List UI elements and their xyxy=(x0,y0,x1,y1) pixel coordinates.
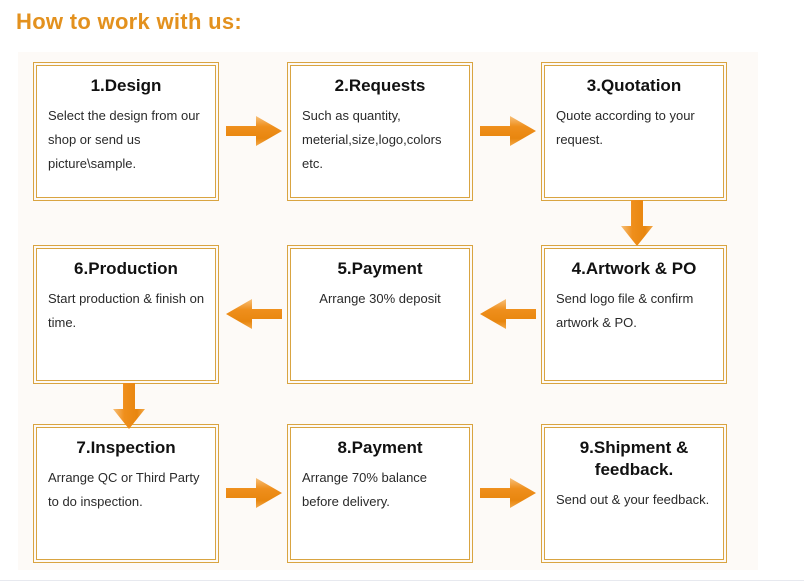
bottom-divider xyxy=(0,580,804,581)
arrow-right-icon-step1-to-step2 xyxy=(226,114,282,148)
arrow-right-icon-step2-to-step3 xyxy=(480,114,536,148)
step-box-7-inspection[interactable]: 7.Inspection Arrange QC or Third Party t… xyxy=(36,427,216,560)
arrow-right-icon-step7-to-step8 xyxy=(226,476,282,510)
arrow-right-icon-step8-to-step9 xyxy=(480,476,536,510)
step-box-3-quotation[interactable]: 3.Quotation Quote according to your requ… xyxy=(544,65,724,198)
step-box-8-payment[interactable]: 8.Payment Arrange 70% balance before del… xyxy=(290,427,470,560)
step-box-2-requests[interactable]: 2.Requests Such as quantity, meterial,si… xyxy=(290,65,470,198)
step-box-1-design[interactable]: 1.Design Select the design from our shop… xyxy=(36,65,216,198)
step-body: Send out & your feedback. xyxy=(556,488,723,512)
step-title: 6.Production xyxy=(43,258,209,280)
step-body: Such as quantity, meterial,size,logo,col… xyxy=(302,104,469,176)
step-body: Quote according to your request. xyxy=(556,104,723,152)
flowchart-canvas: 1.Design Select the design from our shop… xyxy=(18,52,758,570)
step-title: 4.Artwork & PO xyxy=(551,258,717,280)
step-title: 1.Design xyxy=(43,75,209,97)
step-title: 7.Inspection xyxy=(43,437,209,459)
step-title: 5.Payment xyxy=(297,258,463,280)
step-box-6-production[interactable]: 6.Production Start production & finish o… xyxy=(36,248,216,381)
flowchart-page: How to work with us: 1.Design Select the… xyxy=(0,0,804,587)
page-title: How to work with us: xyxy=(16,9,242,35)
step-body: Arrange QC or Third Party to do inspecti… xyxy=(48,466,215,514)
step-body: Arrange 70% balance before delivery. xyxy=(302,466,469,514)
step-title: 2.Requests xyxy=(297,75,463,97)
arrow-down-icon-step3-to-step4 xyxy=(620,200,654,246)
step-body: Start production & finish on time. xyxy=(48,287,215,335)
step-box-4-artwork-po[interactable]: 4.Artwork & PO Send logo file & confirm … xyxy=(544,248,724,381)
arrow-left-icon-step5-to-step6 xyxy=(226,297,282,331)
step-box-9-shipment-feedback[interactable]: 9.Shipment & feedback. Send out & your f… xyxy=(544,427,724,560)
step-title: 3.Quotation xyxy=(551,75,717,97)
step-title: 9.Shipment & feedback. xyxy=(551,437,717,481)
step-body: Select the design from our shop or send … xyxy=(48,104,215,176)
arrow-left-icon-step4-to-step5 xyxy=(480,297,536,331)
arrow-down-icon-step6-to-step7 xyxy=(112,383,146,429)
step-body: Arrange 30% deposit xyxy=(297,287,469,311)
step-body: Send logo file & confirm artwork & PO. xyxy=(556,287,723,335)
step-title: 8.Payment xyxy=(297,437,463,459)
step-box-5-payment[interactable]: 5.Payment Arrange 30% deposit xyxy=(290,248,470,381)
